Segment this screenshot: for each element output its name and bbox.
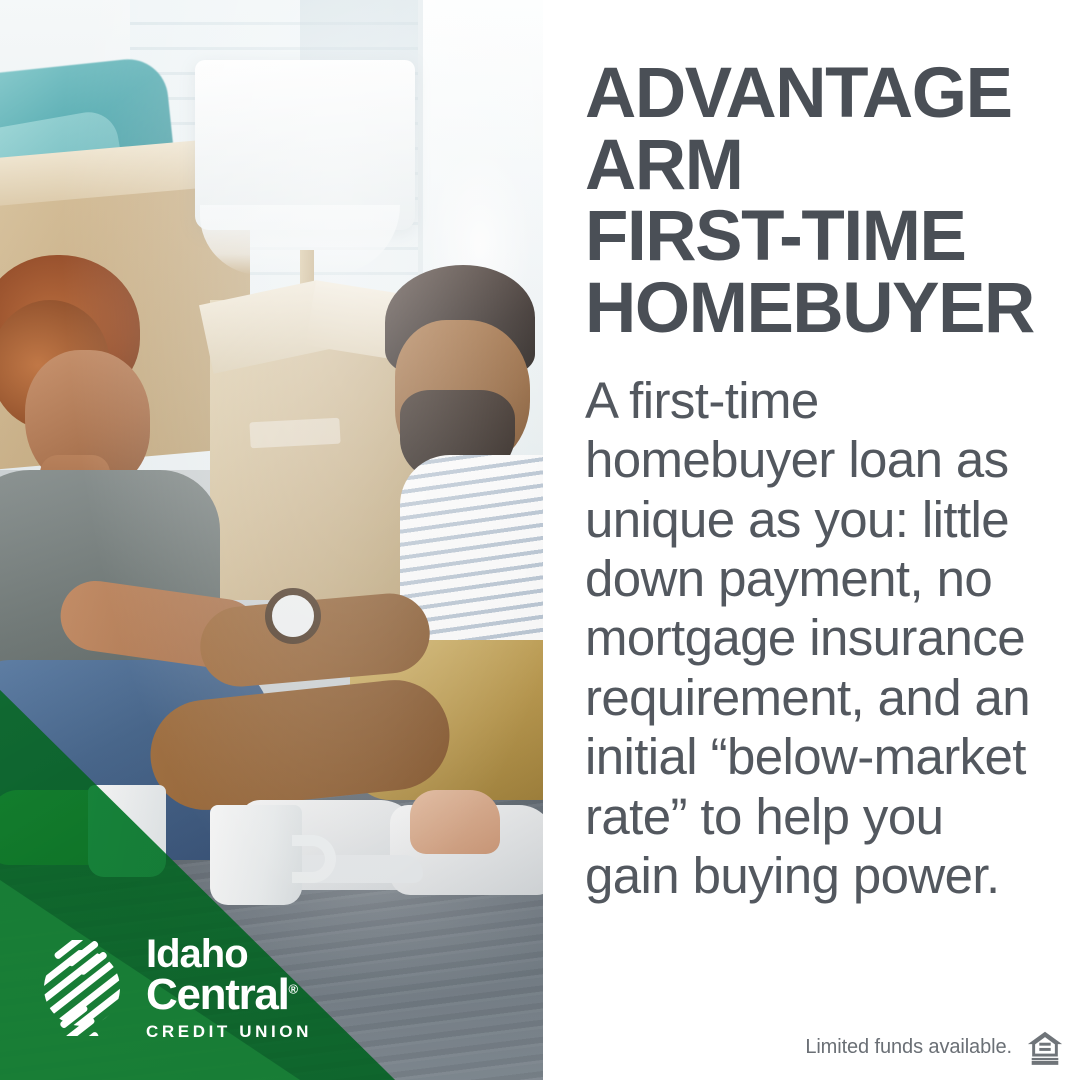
photo-scene [0,0,543,1080]
sneaker-heel [410,790,500,854]
iccu-logo-lockup: Idaho Central® CREDIT UNION [34,935,312,1040]
footer-disclaimer-row: Limited funds available. [805,1028,1064,1066]
content-panel: ADVANTAGE ARM FIRST-TIME HOMEBUYER A fir… [543,0,1080,1080]
limited-funds-note: Limited funds available. [805,1036,1012,1059]
coffee-mug-secondary [88,785,166,877]
coffee-mug-primary [210,805,302,905]
body-copy: A first-time homebuyer loan as unique as… [585,371,1034,906]
iccu-wordmark: Idaho Central® CREDIT UNION [146,935,312,1040]
brand-name-line2: Central® [146,974,312,1016]
brand-name-central: Central [146,970,289,1019]
brand-tagline: CREDIT UNION [146,1023,312,1040]
moving-box-tape [249,418,340,449]
wristwatch [265,588,321,644]
hero-photo-panel: Idaho Central® CREDIT UNION [0,0,543,1080]
registered-trademark-icon: ® [289,981,299,996]
page-title: ADVANTAGE ARM FIRST-TIME HOMEBUYER [585,58,1034,345]
brand-name-line1: Idaho [146,935,312,973]
advertisement-card: Idaho Central® CREDIT UNION ADVANTAGE AR… [0,0,1080,1080]
equal-housing-lender-icon [1026,1028,1064,1066]
iccu-diagonal-slash-mark-icon [34,940,130,1036]
